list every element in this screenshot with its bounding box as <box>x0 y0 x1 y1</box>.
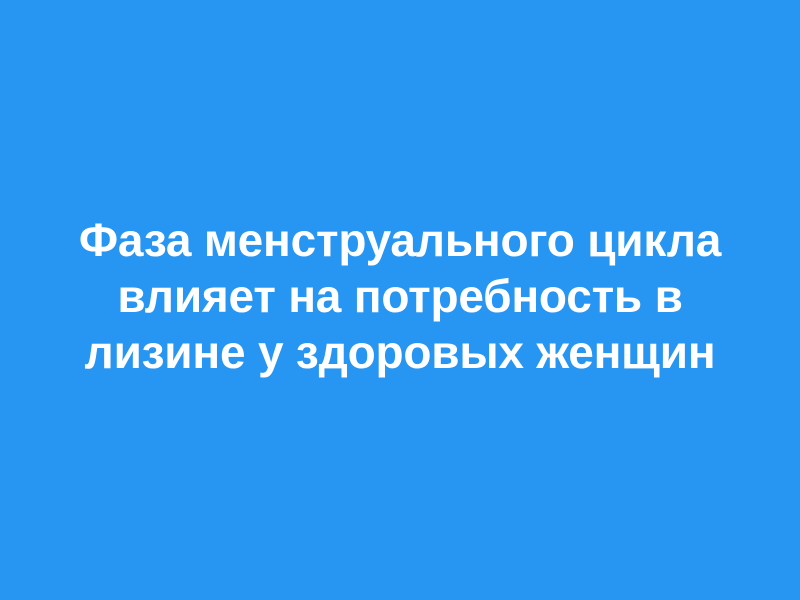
page-title: Фаза менструального цикла влияет на потр… <box>40 212 760 380</box>
title-card: Фаза менструального цикла влияет на потр… <box>0 0 800 600</box>
title-block: Фаза менструального цикла влияет на потр… <box>0 212 800 380</box>
